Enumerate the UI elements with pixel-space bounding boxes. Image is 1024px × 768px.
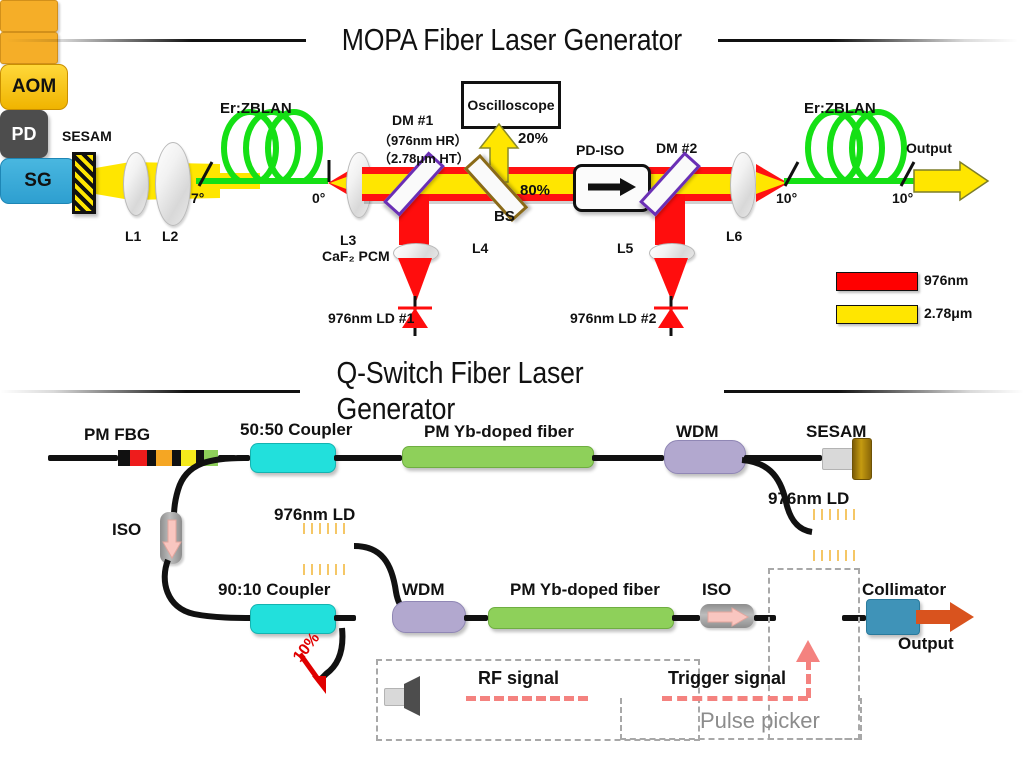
legend-swatch-976nm: [836, 272, 918, 291]
cleave-angle-10a-mark: [780, 160, 802, 190]
qswitch-section-title: Q-Switch Fiber Laser Generator: [0, 355, 1024, 427]
lens-l5-label: L5: [617, 240, 633, 256]
fiber-coupler-to-yb: [334, 455, 402, 461]
lens-l2-label: L2: [162, 228, 178, 244]
legend-label-278um: 2.78μm: [924, 305, 972, 321]
pm-yb-fiber-mid-label: PM Yb-doped fiber: [510, 580, 660, 600]
lens-l6-label: L6: [726, 228, 742, 244]
sesam-label: SESAM: [62, 128, 112, 144]
pm-fbg-label: PM FBG: [84, 425, 150, 445]
title-rule-right-2: [724, 390, 1024, 393]
sesam-qswitch-label: SESAM: [806, 422, 866, 442]
lens-l1[interactable]: [123, 152, 149, 216]
lens-l3-sub-label: CaF₂ PCM: [322, 248, 390, 264]
fiber-wdm-mid-out: [464, 615, 488, 621]
aom-modulator[interactable]: AOM: [0, 64, 68, 110]
ld2-label: 976nm LD #2: [570, 310, 656, 326]
gain-fiber-left-label: Er:ZBLAN: [220, 100, 292, 117]
pm-yb-fiber-mid[interactable]: [488, 607, 674, 629]
ld-top-pins-icon: [806, 509, 862, 561]
legend-label-976nm: 976nm: [924, 272, 968, 288]
collimator[interactable]: [866, 599, 920, 635]
iso-right-arrow-icon: [704, 606, 752, 628]
pd-iso-label: PD-ISO: [576, 142, 624, 158]
coupler-90-10-label: 90:10 Coupler: [218, 580, 330, 600]
sesam-ferrule: [822, 448, 854, 470]
mopa-output-label: Output: [906, 140, 952, 156]
pm-yb-fiber-top[interactable]: [402, 446, 594, 468]
fiber-top-in: [48, 455, 118, 461]
lens-l1-label: L1: [125, 228, 141, 244]
ld1-label: 976nm LD #1: [328, 310, 414, 326]
coupler-50-50[interactable]: [250, 443, 336, 473]
title-rule-right: [718, 39, 1018, 42]
fiber-curve-to-iso: [152, 452, 246, 518]
photodetector[interactable]: PD: [0, 110, 48, 158]
trigger-signal-line: [662, 696, 808, 701]
pd-nose-icon: [404, 676, 426, 716]
coupler-50-50-label: 50:50 Coupler: [240, 420, 352, 440]
ld-top-label: 976nm LD: [768, 489, 849, 509]
dm1-label: DM #1: [392, 112, 433, 128]
sg-label: SG: [24, 170, 51, 192]
fiber-yb-to-iso-right: [672, 615, 700, 621]
wdm-mid[interactable]: [392, 601, 466, 633]
mopa-section-title: MOPA Fiber Laser Generator: [0, 22, 1024, 58]
iso-right-label: ISO: [702, 580, 731, 600]
qswitch-output-label: Output: [898, 634, 954, 654]
pm-yb-fiber-top-label: PM Yb-doped fiber: [424, 422, 574, 442]
fiber-yb-to-wdm-top: [592, 455, 664, 461]
mopa-output-arrow: [912, 160, 992, 204]
arrow-right-icon: [576, 167, 646, 207]
qswitch-output-arrow: [916, 600, 978, 634]
lens-l3-label: L3: [340, 232, 356, 248]
pulse-picker-label: Pulse picker: [700, 708, 820, 734]
title-rule-left-2: [0, 390, 300, 393]
angle-7-label: 7°: [191, 190, 204, 206]
ld-mid-label: 976nm LD: [274, 505, 355, 525]
bs-label: BS: [494, 208, 515, 225]
rf-signal-line: [466, 696, 588, 701]
title-rule-left: [6, 39, 306, 42]
oscilloscope-label: Oscilloscope: [467, 97, 554, 113]
cleave-angle-7-mark: [196, 160, 218, 190]
sesam-mirror[interactable]: [72, 152, 96, 214]
dm1-spec2-label: （2.78μm HT）: [378, 148, 470, 167]
split-80-label: 80%: [520, 182, 550, 199]
angle-10b-label: 10°: [892, 190, 913, 206]
gain-fiber-right-label: Er:ZBLAN: [804, 100, 876, 117]
split-20-label: 20%: [518, 130, 548, 147]
collimator-label: Collimator: [862, 580, 946, 600]
legend-swatch-278um: [836, 305, 918, 324]
diagram-canvas: MOPA Fiber Laser Generator SESAM L1 L2 7…: [0, 0, 1024, 768]
qswitch-title-text: Q-Switch Fiber Laser Generator: [330, 355, 695, 427]
lens-l2[interactable]: [155, 142, 191, 226]
iso-left-arrow-icon: [161, 518, 183, 560]
dm1-spec1-label: （976nm HR）: [378, 130, 468, 149]
pd-label: PD: [11, 124, 36, 145]
wdm-top-label: WDM: [676, 422, 718, 442]
angle-0-label: 0°: [312, 190, 325, 206]
fiber-coupler-to-wdm-mid: [334, 615, 356, 621]
dm2-label: DM #2: [656, 140, 697, 156]
rf-signal-label: RF signal: [478, 668, 559, 689]
ld-mid-pins-icon: [296, 523, 352, 575]
lens-l4-label: L4: [472, 240, 488, 256]
wdm-mid-label: WDM: [402, 580, 444, 600]
wdm-top[interactable]: [664, 440, 746, 474]
mopa-title-text: MOPA Fiber Laser Generator: [335, 22, 689, 58]
iso-left-label: ISO: [112, 520, 141, 540]
fiber-to-coupler-5050: [236, 455, 250, 461]
trigger-arrow-up-icon: [794, 640, 822, 670]
sesam-qswitch[interactable]: [852, 438, 872, 480]
aom-label: AOM: [12, 76, 56, 98]
angle-10a-label: 10°: [776, 190, 797, 206]
pd-iso-box[interactable]: [573, 164, 651, 212]
trigger-signal-label: Trigger signal: [668, 668, 786, 689]
fiber-coil-left: [216, 108, 328, 184]
signal-generator[interactable]: SG: [0, 158, 76, 204]
